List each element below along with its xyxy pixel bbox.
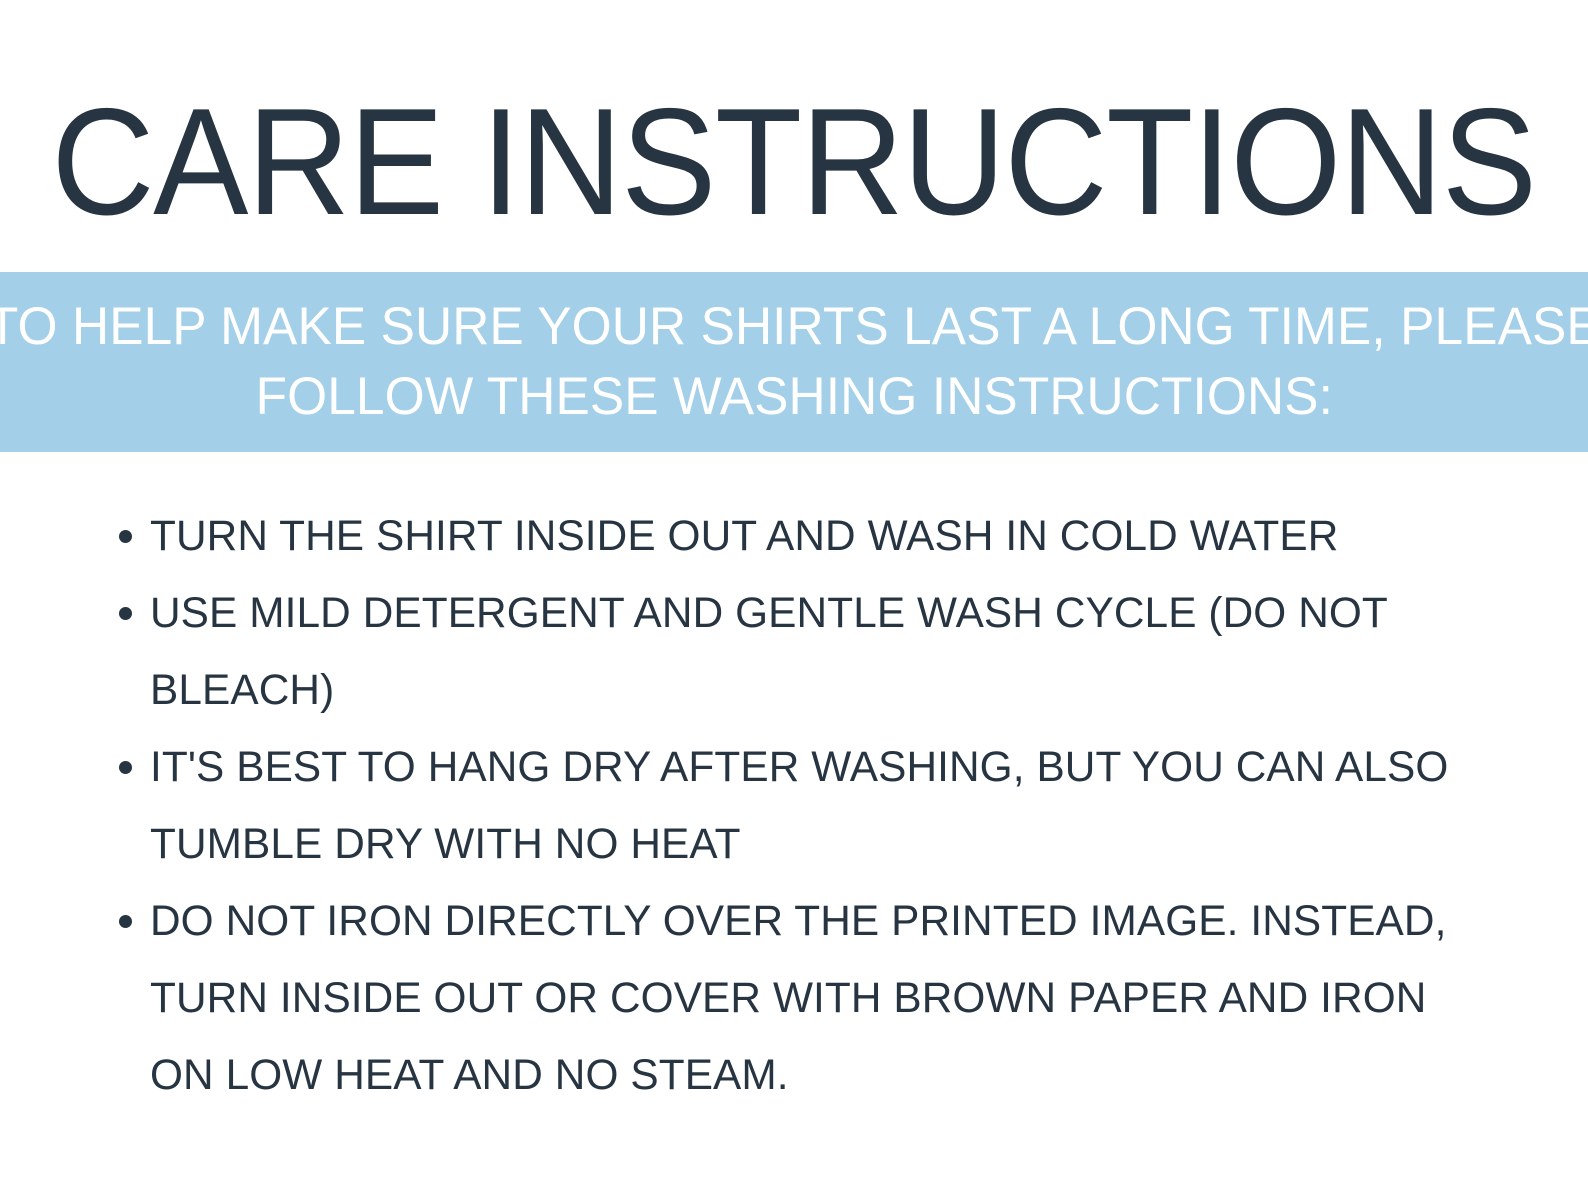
list-item: TURN THE SHIRT INSIDE OUT AND WASH IN CO… bbox=[0, 498, 1588, 575]
list-item-text: USE MILD DETERGENT AND GENTLE WASH CYCLE… bbox=[150, 575, 1478, 729]
instructions-area: TURN THE SHIRT INSIDE OUT AND WASH IN CO… bbox=[0, 498, 1588, 1114]
care-instructions-list: TURN THE SHIRT INSIDE OUT AND WASH IN CO… bbox=[0, 498, 1588, 1114]
list-item: DO NOT IRON DIRECTLY OVER THE PRINTED IM… bbox=[0, 883, 1588, 1114]
bullet-dot-icon bbox=[119, 761, 132, 774]
care-instructions-card: CARE INSTRUCTIONS TO HELP MAKE SURE YOUR… bbox=[0, 0, 1588, 1191]
intro-banner: TO HELP MAKE SURE YOUR SHIRTS LAST A LON… bbox=[0, 272, 1588, 452]
title-area: CARE INSTRUCTIONS bbox=[0, 72, 1588, 252]
bullet-dot-icon bbox=[119, 915, 132, 928]
page-title: CARE INSTRUCTIONS bbox=[52, 86, 1536, 238]
banner-line-1: TO HELP MAKE SURE YOUR SHIRTS LAST A LON… bbox=[0, 292, 1588, 362]
bullet-dot-icon bbox=[119, 530, 132, 543]
list-item-text: IT'S BEST TO HANG DRY AFTER WASHING, BUT… bbox=[150, 729, 1478, 883]
bullet-dot-icon bbox=[119, 607, 132, 620]
list-item-text: TURN THE SHIRT INSIDE OUT AND WASH IN CO… bbox=[150, 498, 1478, 575]
list-item-text: DO NOT IRON DIRECTLY OVER THE PRINTED IM… bbox=[150, 883, 1478, 1114]
list-item: IT'S BEST TO HANG DRY AFTER WASHING, BUT… bbox=[0, 729, 1588, 883]
banner-line-2: FOLLOW THESE WASHING INSTRUCTIONS: bbox=[255, 362, 1332, 432]
list-item: USE MILD DETERGENT AND GENTLE WASH CYCLE… bbox=[0, 575, 1588, 729]
